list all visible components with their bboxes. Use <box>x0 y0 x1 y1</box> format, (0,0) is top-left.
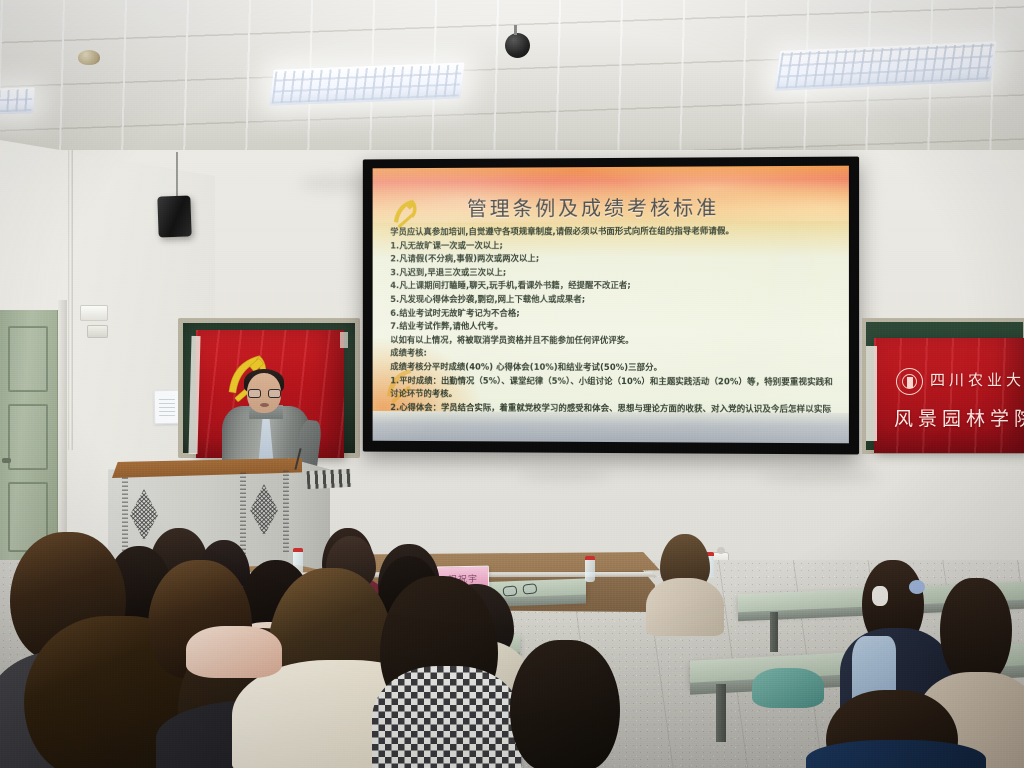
flag-tape <box>340 332 348 348</box>
wall-socket-plate[interactable] <box>87 325 108 338</box>
slide-line: 3.凡迟到,早退三次或三次以上; <box>390 265 836 279</box>
classroom-photo: 管理条例及成绩考核标准 学员应认真参加培训,自觉遵守各项规章制度,请假必须以书面… <box>0 0 1024 768</box>
door-panel <box>8 404 48 470</box>
presentation-slide: 管理条例及成绩考核标准 学员应认真参加培训,自觉遵守各项规章制度,请假必须以书面… <box>373 166 849 444</box>
light-switch-plate[interactable] <box>80 305 108 321</box>
slide-line: 5.凡发现心得体会抄袭,剽窃,网上下载他人或成果者; <box>390 293 836 307</box>
presenter-mouth <box>260 403 269 407</box>
wall-smudge <box>520 470 610 482</box>
wall-pipe <box>68 150 73 450</box>
presenter-glasses-icon <box>248 389 281 398</box>
slide-line: 1.平时成绩：出勤情况（5%）、课堂纪律（5%）、小组讨论（10%）和主题实践活… <box>390 374 836 403</box>
slide-line: 4.凡上课期间打瞌睡,聊天,玩手机,看课外书籍，经提醒不改正者; <box>390 279 836 293</box>
ceiling-light-panel <box>0 87 35 115</box>
ceiling-dome-camera-icon <box>505 33 530 58</box>
banner-university-name: 四川农业大学 <box>930 369 1022 390</box>
slide-line: 学员应认真参加培训,自觉遵守各项规章制度,请假必须以书面形式向所在组的指导老师请… <box>390 224 836 239</box>
banner-folds <box>874 338 1024 453</box>
desk-leg <box>770 612 778 652</box>
water-bottle <box>585 556 595 582</box>
speaker-mount-wire <box>176 152 178 198</box>
student-bag <box>752 668 824 708</box>
university-seal-icon <box>896 368 923 395</box>
door-panel <box>8 326 48 392</box>
slide-footer-bar <box>373 411 849 444</box>
hair-scrunchie <box>909 580 925 594</box>
wall-speaker-icon <box>157 195 191 237</box>
ceiling <box>0 0 1024 175</box>
ceiling-light-panel <box>269 62 464 105</box>
wall-smudge <box>760 470 880 484</box>
smoke-detector-icon <box>78 50 100 65</box>
slide-line: 7.结业考试作弊,请他人代考。 <box>390 320 836 334</box>
desk-leg <box>716 684 726 742</box>
slide-party-emblem-icon <box>386 195 423 230</box>
face-mask-icon <box>872 586 888 606</box>
podium-perforation <box>240 472 246 554</box>
slide-line: 6.结业考试时无故旷考记为不合格; <box>390 307 836 321</box>
projection-screen[interactable]: 管理条例及成绩考核标准 学员应认真参加培训,自觉遵守各项规章制度,请假必须以书面… <box>373 166 849 444</box>
slide-line: 以如有以上情况，将被取消学员资格并且不能参加任何评优评奖。 <box>390 334 836 348</box>
ceiling-shading <box>0 0 1024 175</box>
slide-line: 1.凡无故旷课一次或一次以上; <box>390 238 836 253</box>
podium-control-panel[interactable] <box>307 469 352 489</box>
slide-line: 2.凡请假(不分病,事假)两次或两次以上; <box>390 252 836 266</box>
classroom-door[interactable] <box>0 310 60 570</box>
wall-smudge <box>300 175 370 191</box>
university-banner: 四川农业大学 风景园林学院 <box>874 338 1024 453</box>
banner-college-name: 风景园林学院 <box>894 404 1024 431</box>
slide-body-text: 学员应认真参加培训,自觉遵守各项规章制度,请假必须以书面形式向所在组的指导老师请… <box>390 224 836 407</box>
podium-perforation <box>122 477 128 559</box>
podium-perforation <box>283 470 289 552</box>
slide-title: 管理条例及成绩考核标准 <box>467 191 833 221</box>
door-handle-icon[interactable] <box>2 458 11 463</box>
projection-screen-frame: 管理条例及成绩考核标准 学员应认真参加培训,自觉遵守各项规章制度,请假必须以书面… <box>363 157 859 455</box>
student-bag <box>186 626 282 678</box>
banner-tape <box>866 346 877 441</box>
slide-line: 成绩考核分平时成绩(40%) 心得体会(10%)和结业考试(50%)三部分。 <box>390 361 836 376</box>
wall-notice-paper <box>154 390 181 424</box>
slide-line: 成绩考核: <box>390 347 836 361</box>
